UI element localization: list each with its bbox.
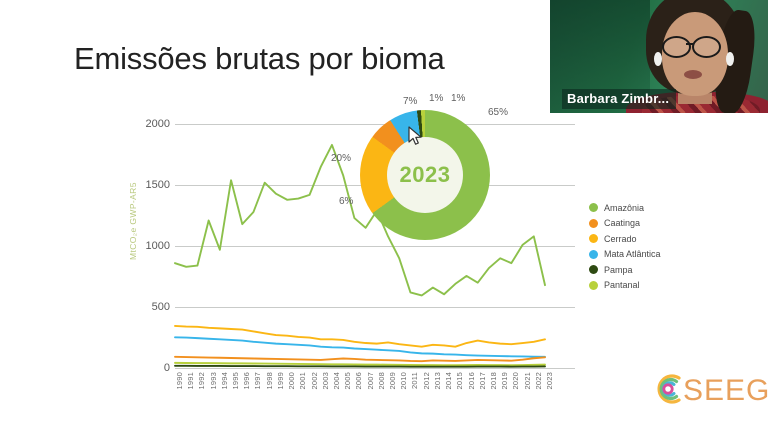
donut-center: 2023	[387, 137, 463, 213]
legend-item-label: Amazônia	[604, 203, 644, 213]
legend-color-swatch	[589, 203, 598, 212]
series-line-mata-atlântica	[175, 337, 545, 357]
donut-label-pantanal: 1%	[451, 93, 465, 104]
x-axis-tick: 2007	[366, 372, 375, 390]
webcam-glasses-bridge	[686, 43, 693, 45]
x-axis-tick: 2006	[354, 372, 363, 390]
y-axis-tick: 1500	[146, 179, 170, 191]
legend-item-pampa[interactable]: Pampa	[589, 262, 699, 278]
x-axis-tick: 2014	[444, 372, 453, 390]
x-axis-tick: 2018	[489, 372, 498, 390]
legend-item-caatinga[interactable]: Caatinga	[589, 216, 699, 232]
webcam-mouth	[684, 70, 702, 79]
x-axis-tick: 1996	[242, 372, 251, 390]
x-axis-tick: 2012	[422, 372, 431, 390]
chart-legend: AmazôniaCaatingaCerradoMata AtlânticaPam…	[589, 200, 699, 293]
x-axis-tick: 2008	[377, 372, 386, 390]
x-axis-tick: 2016	[467, 372, 476, 390]
x-axis-tick: 1994	[220, 372, 229, 390]
legend-item-amazônia[interactable]: Amazônia	[589, 200, 699, 216]
donut-label-pampa: 1%	[429, 93, 443, 104]
x-axis-tick: 1990	[175, 372, 184, 390]
x-axis-tick: 2019	[500, 372, 509, 390]
donut-label-mata-atlantica: 7%	[403, 96, 417, 107]
x-axis-tick: 2022	[534, 372, 543, 390]
donut-year-label: 2023	[400, 162, 451, 188]
x-axis-tick: 2023	[545, 372, 554, 390]
x-axis-tick: 1997	[253, 372, 262, 390]
series-line-pampa	[175, 366, 545, 367]
y-axis-title: MtCO₂e GWP-AR5	[128, 182, 138, 260]
x-axis-tick: 2009	[388, 372, 397, 390]
seeg-logo: SEEG	[652, 372, 752, 418]
legend-item-cerrado[interactable]: Cerrado	[589, 231, 699, 247]
legend-item-label: Caatinga	[604, 218, 640, 228]
x-axis-tick: 1992	[197, 372, 206, 390]
x-axis-tick: 2011	[410, 372, 419, 389]
line-chart: MtCO₂e GWP-AR5 0500100015002000	[140, 112, 560, 374]
presentation-slide: Emissões brutas por bioma MtCO₂e GWP-AR5…	[0, 0, 768, 431]
legend-item-label: Pantanal	[604, 280, 640, 290]
x-axis-tick: 1991	[186, 372, 195, 390]
page-title: Emissões brutas por bioma	[74, 40, 445, 78]
participant-name-label: Barbara Zimbr...	[562, 89, 676, 109]
x-axis-tick: 1999	[276, 372, 285, 390]
x-axis-tick: 2020	[511, 372, 520, 390]
webcam-glasses-right	[692, 36, 721, 58]
legend-color-swatch	[589, 281, 598, 290]
x-axis: 1990199119921993199419951996199719981999…	[175, 372, 545, 418]
x-axis-tick: 2017	[478, 372, 487, 390]
legend-item-label: Pampa	[604, 265, 633, 275]
webcam-glasses-left	[662, 36, 691, 58]
legend-color-swatch	[589, 234, 598, 243]
legend-item-label: Mata Atlântica	[604, 249, 661, 259]
y-axis-tick: 2000	[146, 118, 170, 130]
legend-color-swatch	[589, 265, 598, 274]
x-axis-tick: 2003	[321, 372, 330, 390]
x-axis-tick: 2005	[343, 372, 352, 390]
webcam-video-tile[interactable]: Barbara Zimbr...	[550, 0, 768, 113]
y-axis-tick: 0	[164, 362, 170, 374]
x-axis-tick: 1995	[231, 372, 240, 390]
y-axis-tick: 1000	[146, 240, 170, 252]
seeg-wordmark: SEEG	[683, 374, 768, 408]
donut-label-cerrado: 20%	[331, 153, 351, 164]
x-axis-tick: 2013	[433, 372, 442, 390]
x-axis-tick: 2004	[332, 372, 341, 390]
legend-item-pantanal[interactable]: Pantanal	[589, 278, 699, 294]
legend-item-label: Cerrado	[604, 234, 637, 244]
legend-item-mata-atlântica[interactable]: Mata Atlântica	[589, 247, 699, 263]
series-line-pantanal	[175, 363, 545, 365]
gridline	[175, 368, 575, 369]
donut-chart-2023[interactable]: 2023 65% 20% 6% 7% 1% 1%	[360, 110, 490, 240]
legend-color-swatch	[589, 219, 598, 228]
webcam-earphone-left	[654, 52, 662, 66]
series-line-cerrado	[175, 326, 545, 347]
series-line-caatinga	[175, 357, 545, 361]
y-axis-tick: 500	[152, 301, 170, 313]
x-axis-tick: 2015	[455, 372, 464, 390]
x-axis-tick: 2001	[298, 372, 307, 390]
mouse-cursor-icon	[408, 126, 424, 146]
donut-label-amazonia: 65%	[488, 107, 508, 118]
x-axis-tick: 2010	[399, 372, 408, 390]
x-axis-tick: 1998	[265, 372, 274, 390]
x-axis-tick: 2000	[287, 372, 296, 390]
x-axis-tick: 1993	[209, 372, 218, 390]
webcam-earphone-right	[726, 52, 734, 66]
legend-color-swatch	[589, 250, 598, 259]
x-axis-tick: 2002	[310, 372, 319, 390]
donut-label-caatinga: 6%	[339, 196, 353, 207]
seeg-spiral-icon	[652, 372, 682, 406]
x-axis-tick: 2021	[523, 372, 532, 390]
